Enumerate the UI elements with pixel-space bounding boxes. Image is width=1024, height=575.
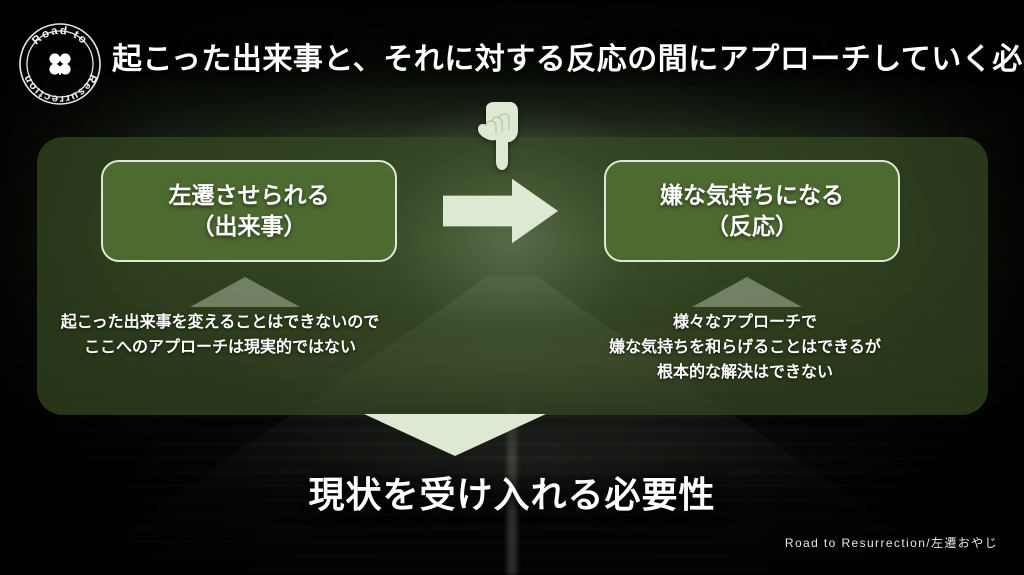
- svg-text:Resurrection: Resurrection: [21, 72, 99, 105]
- slide-canvas: Road to Resurrection 起こった出来事と、それに対する反応の間…: [0, 0, 1024, 575]
- hand-pointing-down-icon: [466, 100, 534, 172]
- caption-reaction: 様々なアプローチで 嫌な気持ちを和らげることはできるが 根本的な解決はできない: [580, 311, 910, 385]
- concept-box-reaction[interactable]: 嫌な気持ちになる （反応）: [604, 160, 900, 262]
- caption-reaction-line3: 根本的な解決はできない: [580, 361, 910, 386]
- caption-reaction-line1: 様々なアプローチで: [580, 311, 910, 336]
- concept-box-reaction-line2: （反応）: [706, 211, 798, 242]
- conclusion-text: 現状を受け入れる必要性: [0, 466, 1024, 518]
- svg-text:Road to: Road to: [30, 25, 90, 48]
- slide-title: 起こった出来事と、それに対する反応の間にアプローチしていく必要性: [112, 42, 1012, 78]
- concept-box-event[interactable]: 左遷させられる （出来事）: [101, 160, 397, 262]
- concept-box-event-line1: 左遷させられる: [169, 180, 330, 211]
- caption-event-line2: ここへのアプローチは現実的ではない: [55, 336, 385, 361]
- concept-box-reaction-line1: 嫌な気持ちになる: [660, 180, 844, 211]
- caption-event-line1: 起こった出来事を変えることはできないので: [55, 311, 385, 336]
- caption-reaction-line2: 嫌な気持ちを和らげることはできるが: [580, 336, 910, 361]
- brand-logo-icon: Road to Resurrection: [14, 18, 106, 110]
- concept-box-event-line2: （出来事）: [192, 211, 307, 242]
- caption-event: 起こった出来事を変えることはできないので ここへのアプローチは現実的ではない: [55, 311, 385, 361]
- footer-credit: Road to Resurrection/左遷おやじ: [785, 534, 998, 551]
